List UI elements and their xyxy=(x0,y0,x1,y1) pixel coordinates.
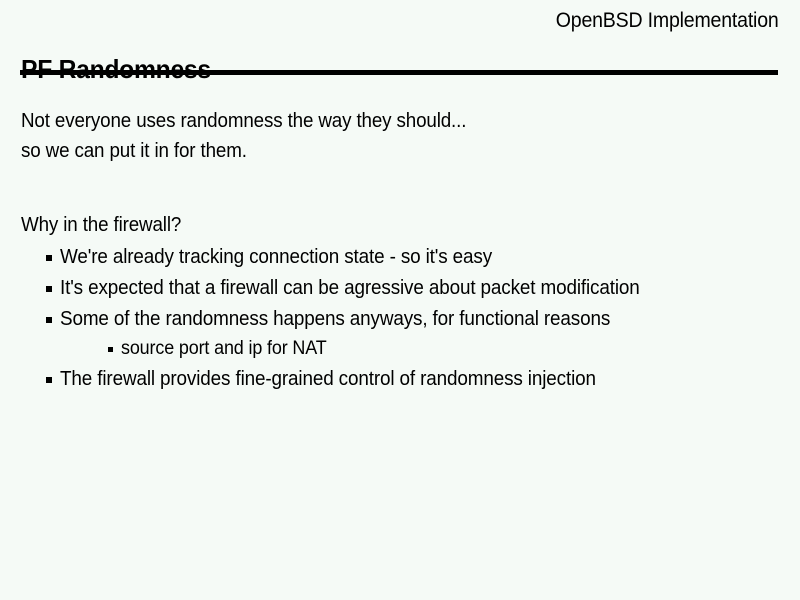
list-item: We're already tracking connection state … xyxy=(21,242,781,272)
intro-line-1: Not everyone uses randomness the way the… xyxy=(21,106,735,136)
square-bullet-icon xyxy=(46,317,52,323)
square-bullet-icon xyxy=(46,255,52,261)
presentation-slide: OpenBSD Implementation PF Randomness Not… xyxy=(0,0,800,600)
list-item-label: Some of the randomness happens anyways, … xyxy=(60,304,684,334)
sub-list-item: source port and ip for NAT xyxy=(60,334,781,363)
list-item-label: It's expected that a firewall can be agr… xyxy=(60,273,684,303)
slide-kicker: OpenBSD Implementation xyxy=(556,8,779,34)
list-item: It's expected that a firewall can be agr… xyxy=(21,273,781,303)
sub-list-item-label: source port and ip for NAT xyxy=(121,334,745,363)
list-item: The firewall provides fine-grained contr… xyxy=(21,364,781,394)
title-divider xyxy=(20,70,778,75)
small-square-bullet-icon xyxy=(108,347,113,352)
section-question: Why in the firewall? xyxy=(21,210,735,240)
list-item: Some of the randomness happens anyways, … xyxy=(21,304,781,363)
slide-body: Not everyone uses randomness the way the… xyxy=(21,106,781,395)
bullet-list: We're already tracking connection state … xyxy=(21,242,781,394)
list-item-label: We're already tracking connection state … xyxy=(60,242,684,272)
body-spacer xyxy=(21,166,781,210)
intro-line-2: so we can put it in for them. xyxy=(21,136,735,166)
list-item-label: The firewall provides fine-grained contr… xyxy=(60,364,684,394)
square-bullet-icon xyxy=(46,377,52,383)
slide-header: OpenBSD Implementation PF Randomness xyxy=(0,0,800,78)
square-bullet-icon xyxy=(46,286,52,292)
sub-bullet-list: source port and ip for NAT xyxy=(60,334,781,363)
